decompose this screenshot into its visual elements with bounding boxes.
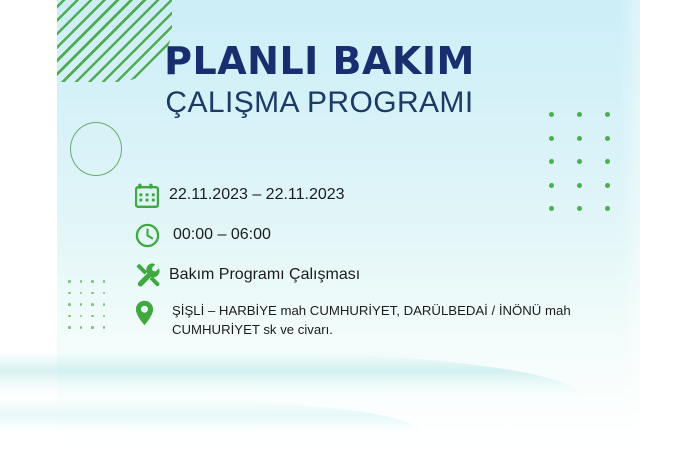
- grid-dot: [103, 303, 106, 306]
- detail-row-date: 22.11.2023 – 22.11.2023: [135, 180, 605, 210]
- grid-dot: [80, 292, 83, 295]
- grid-dot: [80, 303, 83, 306]
- grid-dot: [605, 159, 610, 164]
- detail-address-text: ŞİŞLİ – HARBİYE mah CUMHURİYET, DARÜLBED…: [169, 300, 602, 339]
- grid-dot: [91, 315, 94, 318]
- grid-dot: [91, 326, 94, 329]
- location-pin-icon: [135, 300, 169, 326]
- grid-dot: [549, 159, 554, 164]
- detail-work-type-text: Bakım Programı Çalışması: [169, 260, 360, 285]
- detail-time-text: 00:00 – 06:00: [169, 220, 271, 245]
- grid-dot: [68, 280, 71, 283]
- grid-dot: [577, 136, 582, 141]
- grid-dot: [68, 326, 71, 329]
- grid-dot: [103, 315, 106, 318]
- grid-dot: [80, 280, 83, 283]
- grid-dot: [549, 136, 554, 141]
- grid-dot: [68, 315, 71, 318]
- grid-dot: [91, 303, 94, 306]
- dot-grid-left-decoration: [68, 280, 114, 328]
- grid-dot: [68, 303, 71, 306]
- grid-dot: [103, 292, 106, 295]
- grid-dot: [91, 292, 94, 295]
- details-list: 22.11.2023 – 22.11.2023 00:00 – 06:00: [135, 180, 605, 349]
- calendar-icon: [135, 180, 169, 210]
- detail-row-address: ŞİŞLİ – HARBİYE mah CUMHURİYET, DARÜLBED…: [135, 300, 605, 339]
- grid-dot: [91, 280, 94, 283]
- circle-outline-decoration: [70, 122, 122, 176]
- grid-dot: [80, 326, 83, 329]
- poster-heading-block: PLANLI BAKIM ÇALIŞMA PROGRAMI: [57, 42, 640, 120]
- grid-dot: [80, 315, 83, 318]
- detail-date-text: 22.11.2023 – 22.11.2023: [169, 180, 345, 205]
- clock-icon: [135, 220, 169, 250]
- tools-icon: [135, 260, 169, 290]
- grid-dot: [605, 206, 610, 211]
- detail-row-work-type: Bakım Programı Çalışması: [135, 260, 605, 290]
- page-subtitle: ÇALIŞMA PROGRAMI: [57, 86, 582, 120]
- grid-dot: [605, 183, 610, 188]
- grid-dot: [577, 159, 582, 164]
- planned-maintenance-poster: PLANLI BAKIM ÇALIŞMA PROGRAMI 22.11.2023…: [0, 0, 690, 450]
- grid-dot: [68, 292, 71, 295]
- grid-dot: [605, 136, 610, 141]
- page-title: PLANLI BAKIM: [57, 42, 582, 80]
- grid-dot: [103, 326, 106, 329]
- detail-row-time: 00:00 – 06:00: [135, 220, 605, 250]
- grid-dot: [103, 280, 106, 283]
